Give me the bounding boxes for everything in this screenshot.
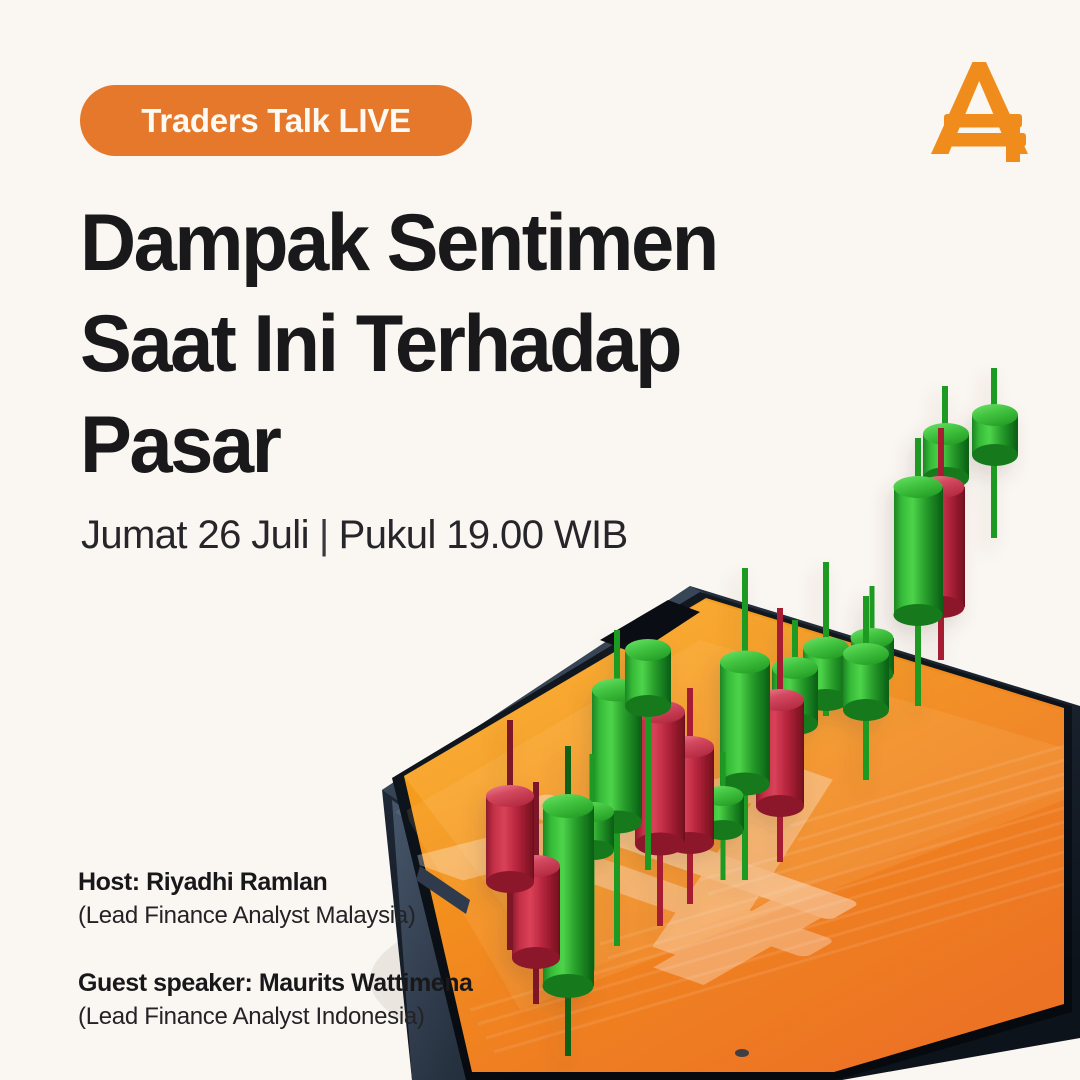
datetime-separator: | — [309, 513, 339, 557]
speaker-role: (Lead Finance Analyst Indonesia) — [78, 1000, 473, 1034]
page-title: Dampak Sentimen Saat Ini Terhadap Pasar — [80, 193, 840, 496]
badge-label: Traders Talk LIVE — [141, 102, 410, 140]
ascendex-a-logo-icon — [928, 58, 1036, 162]
traders-talk-live-badge[interactable]: Traders Talk LIVE — [80, 85, 472, 156]
event-datetime: Jumat 26 Juli|Pukul 19.00 WIB — [81, 513, 628, 558]
speaker-name: Guest speaker: Maurits Wattimena — [78, 967, 473, 1000]
event-date: Jumat 26 Juli — [81, 513, 309, 557]
poster-canvas: Traders Talk LIVE Dampak Sentimen Saat I… — [0, 0, 1080, 1080]
speaker-name: Host: Riyadhi Ramlan — [78, 866, 473, 899]
headline-line-1: Dampak Sentimen — [80, 193, 810, 294]
candle-19 — [972, 368, 1018, 538]
headline-line-2: Saat Ini Terhadap — [80, 294, 810, 395]
speaker-role: (Lead Finance Analyst Malaysia) — [78, 899, 473, 933]
speaker-host: Host: Riyadhi Ramlan (Lead Finance Analy… — [78, 866, 473, 933]
event-time: Pukul 19.00 WIB — [339, 513, 628, 557]
headline-line-3: Pasar — [80, 395, 810, 496]
speaker-guest: Guest speaker: Maurits Wattimena (Lead F… — [78, 967, 473, 1034]
speaker-list: Host: Riyadhi Ramlan (Lead Finance Analy… — [78, 866, 473, 1034]
